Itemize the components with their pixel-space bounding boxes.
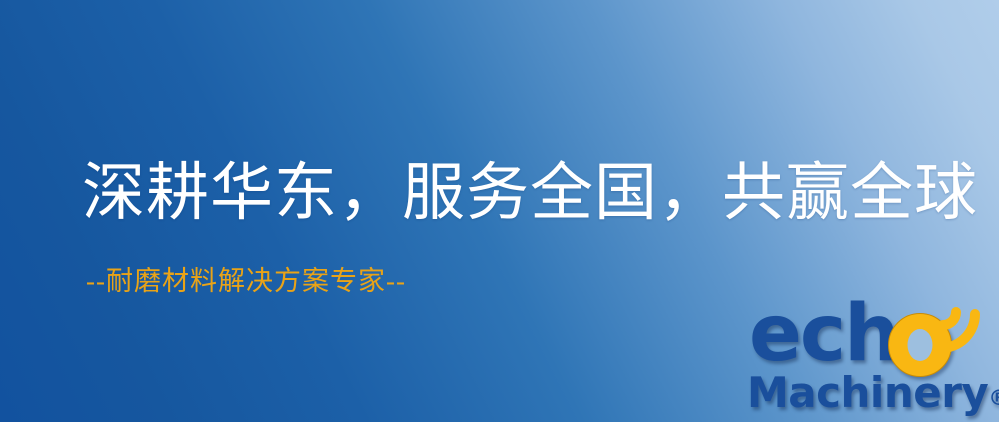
logo-signal-waves-icon [931, 290, 999, 360]
banner-subtitle: --耐磨材料解决方案专家-- [86, 262, 406, 300]
logo-tagline: Machinery® [747, 370, 999, 421]
banner-headline: 深耕华东，服务全国，共赢全球 [82, 154, 978, 232]
logo-wordmark-text: ech [749, 293, 898, 375]
company-logo[interactable]: ech Machinery® [745, 296, 999, 422]
logo-wordmark-echo: ech [745, 296, 999, 378]
logo-tagline-text: Machinery [747, 368, 988, 417]
hero-banner: 深耕华东，服务全国，共赢全球 --耐磨材料解决方案专家-- ech Machin… [0, 0, 999, 422]
logo-registered-mark: ® [988, 386, 999, 410]
